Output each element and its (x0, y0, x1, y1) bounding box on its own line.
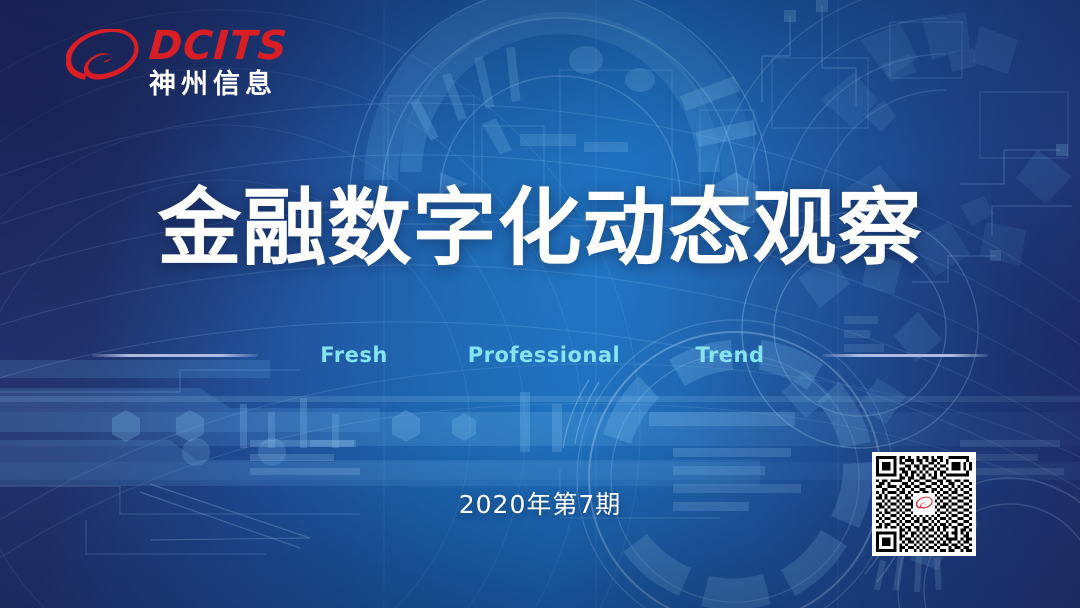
logo-latin-text: DCITS (148, 26, 289, 66)
logo-chinese-text: 神州信息 (149, 71, 288, 98)
tagline-word-professional: Professional (428, 343, 660, 367)
page-title: 金融数字化动态观察 (0, 186, 1080, 270)
brand-logo[interactable]: DCITS 神州信息 (66, 26, 288, 98)
tagline-word-trend: Trend (660, 343, 800, 367)
dcits-swirl-mark-icon (66, 29, 140, 95)
poster-canvas: DCITS 神州信息 金融数字化动态观察 Fresh Professional … (0, 0, 1080, 608)
tagline-rule-left (92, 354, 258, 357)
tagline-words: Fresh Professional Trend (280, 343, 800, 367)
qr-center-logo (913, 493, 935, 515)
tagline-word-fresh: Fresh (280, 343, 428, 367)
tagline-row: Fresh Professional Trend (0, 341, 1080, 369)
tagline-rule-right (822, 354, 988, 357)
qr-code[interactable] (872, 452, 976, 556)
